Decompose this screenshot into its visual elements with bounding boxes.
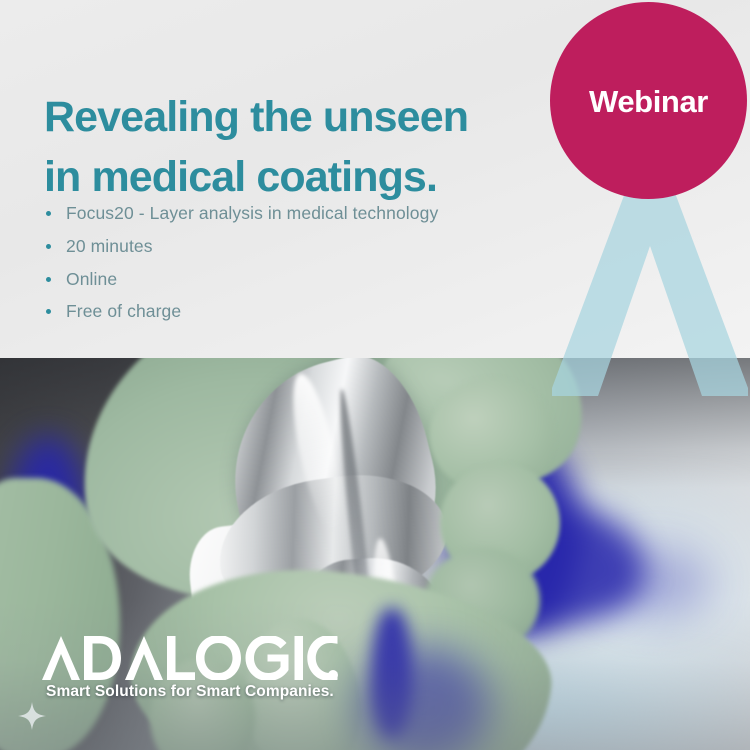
status-badge: Webinar xyxy=(550,2,747,199)
bullet-dot-icon xyxy=(46,211,51,216)
logo-wordmark-icon xyxy=(42,636,338,680)
promo-graphic: Revealing the unseen in medical coatings… xyxy=(0,0,750,750)
brand-logo: Smart Solutions for Smart Companies. xyxy=(42,636,338,701)
page-title: Revealing the unseen in medical coatings… xyxy=(44,87,544,207)
bullet-dot-icon xyxy=(46,277,51,282)
list-item-label: Free of charge xyxy=(66,301,181,321)
list-item: Online xyxy=(44,268,438,292)
list-item-label: Online xyxy=(66,269,117,289)
list-item: 20 minutes xyxy=(44,235,438,259)
list-item-label: 20 minutes xyxy=(66,236,153,256)
list-item-label: Focus20 - Layer analysis in medical tech… xyxy=(66,203,438,223)
sparkle-icon xyxy=(18,702,46,730)
list-item: Free of charge xyxy=(44,300,438,324)
logo-tagline: Smart Solutions for Smart Companies. xyxy=(46,683,338,701)
list-item: Focus20 - Layer analysis in medical tech… xyxy=(44,202,438,226)
bullet-dot-icon xyxy=(46,309,51,314)
webinar-details-list: Focus20 - Layer analysis in medical tech… xyxy=(44,202,438,333)
bullet-dot-icon xyxy=(46,244,51,249)
status-badge-label: Webinar xyxy=(589,84,708,120)
